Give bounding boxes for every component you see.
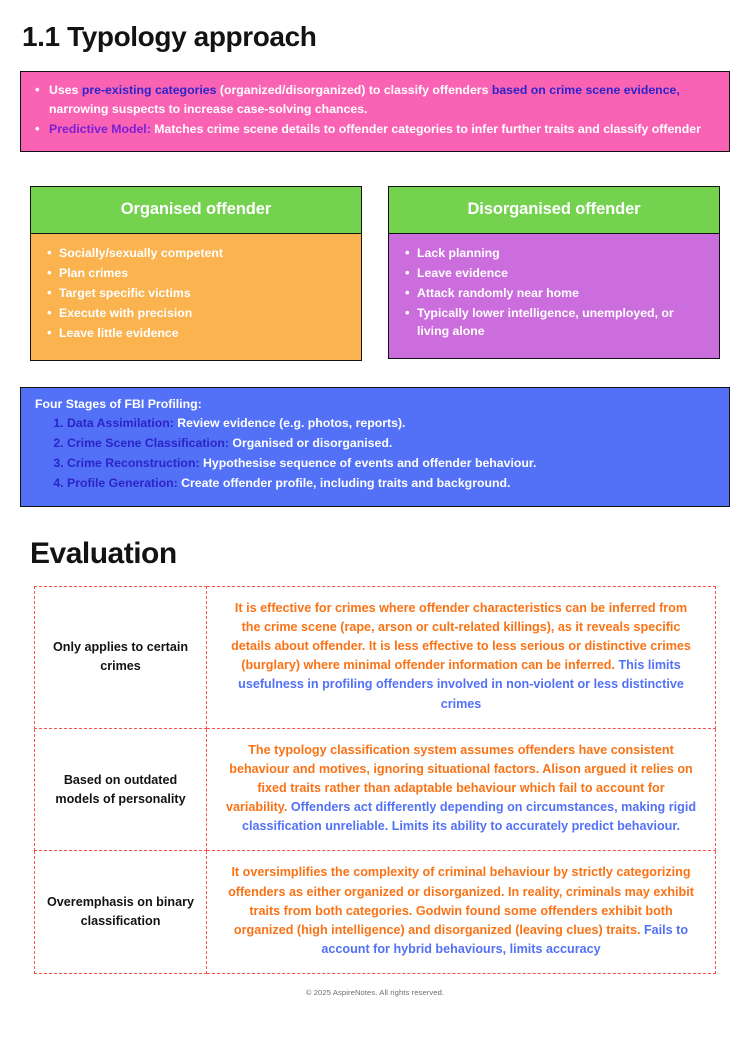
fbi-stages-box: Four Stages of FBI Profiling: Data Assim… bbox=[20, 387, 730, 507]
offender-column-body: Socially/sexually competentPlan crimesTa… bbox=[30, 233, 362, 361]
table-row: Overemphasis on binary classificationIt … bbox=[35, 851, 716, 974]
table-row: Based on outdated models of personalityT… bbox=[35, 728, 716, 851]
fbi-stage-text: Hypothesise sequence of events and offen… bbox=[200, 456, 537, 470]
fbi-stage-label: Crime Scene Classification: bbox=[67, 436, 229, 450]
fbi-stage-text: Create offender profile, including trait… bbox=[178, 476, 511, 490]
footer-copyright: © 2025 AspireNotes. All rights reserved. bbox=[18, 974, 732, 1005]
fbi-stage-item: Crime Reconstruction: Hypothesise sequen… bbox=[67, 454, 715, 474]
evaluation-row-body: The typology classification system assum… bbox=[207, 728, 716, 851]
table-row: Only applies to certain crimesIt is effe… bbox=[35, 586, 716, 728]
summary-text-span: (organized/disorganized) to classify off… bbox=[216, 83, 491, 97]
offender-trait-item: Attack randomly near home bbox=[417, 284, 707, 302]
offender-trait-item: Socially/sexually competent bbox=[59, 244, 349, 262]
evaluation-row-label: Overemphasis on binary classification bbox=[35, 851, 207, 974]
summary-box: Uses pre-existing categories (organized/… bbox=[20, 71, 730, 152]
fbi-stage-label: Profile Generation: bbox=[67, 476, 178, 490]
evaluation-row-label: Based on outdated models of personality bbox=[35, 728, 207, 851]
fbi-stage-label: Data Assimilation: bbox=[67, 416, 174, 430]
evaluation-text-span: It oversimplifies the complexity of crim… bbox=[228, 865, 694, 936]
offender-trait-item: Leave little evidence bbox=[59, 324, 349, 342]
evaluation-row-body: It oversimplifies the complexity of crim… bbox=[207, 851, 716, 974]
evaluation-row-body: It is effective for crimes where offende… bbox=[207, 586, 716, 728]
fbi-stage-label: Crime Reconstruction: bbox=[67, 456, 200, 470]
offender-trait-item: Execute with precision bbox=[59, 304, 349, 322]
summary-text-span: pre-existing categories bbox=[82, 83, 217, 97]
evaluation-text-span: Offenders act differently depending on c… bbox=[242, 800, 696, 833]
offender-column: Organised offenderSocially/sexually comp… bbox=[30, 186, 362, 361]
offender-trait-item: Plan crimes bbox=[59, 264, 349, 282]
offender-columns: Organised offenderSocially/sexually comp… bbox=[30, 186, 720, 361]
evaluation-row-label: Only applies to certain crimes bbox=[35, 586, 207, 728]
offender-column: Disorganised offenderLack planningLeave … bbox=[388, 186, 720, 361]
summary-text-span: Matches crime scene details to offender … bbox=[151, 122, 701, 136]
fbi-stages-list: Data Assimilation: Review evidence (e.g.… bbox=[35, 414, 715, 494]
fbi-stages-title: Four Stages of FBI Profiling: bbox=[35, 397, 715, 411]
page-container: 1.1 Typology approach Uses pre-existing … bbox=[0, 0, 750, 1005]
fbi-stage-text: Review evidence (e.g. photos, reports). bbox=[174, 416, 406, 430]
offender-column-title: Disorganised offender bbox=[388, 186, 720, 233]
offender-column-body: Lack planningLeave evidenceAttack random… bbox=[388, 233, 720, 359]
evaluation-heading: Evaluation bbox=[30, 537, 732, 570]
offender-trait-item: Lack planning bbox=[417, 244, 707, 262]
fbi-stage-item: Profile Generation: Create offender prof… bbox=[67, 474, 715, 494]
summary-text-span: based on crime scene evidence, bbox=[492, 83, 680, 97]
fbi-stage-item: Data Assimilation: Review evidence (e.g.… bbox=[67, 414, 715, 434]
summary-bullet: Uses pre-existing categories (organized/… bbox=[47, 81, 715, 119]
offender-trait-item: Leave evidence bbox=[417, 264, 707, 282]
summary-text-span: Predictive Model: bbox=[49, 122, 151, 136]
offender-trait-item: Target specific victims bbox=[59, 284, 349, 302]
summary-bullet-list: Uses pre-existing categories (organized/… bbox=[31, 81, 715, 139]
offender-column-title: Organised offender bbox=[30, 186, 362, 233]
evaluation-table: Only applies to certain crimesIt is effe… bbox=[34, 586, 716, 974]
offender-trait-item: Typically lower intelligence, unemployed… bbox=[417, 304, 707, 340]
fbi-stage-item: Crime Scene Classification: Organised or… bbox=[67, 434, 715, 454]
summary-bullet: Predictive Model: Matches crime scene de… bbox=[47, 120, 715, 139]
page-title: 1.1 Typology approach bbox=[22, 22, 732, 53]
offender-trait-list: Lack planningLeave evidenceAttack random… bbox=[401, 244, 707, 340]
fbi-stage-text: Organised or disorganised. bbox=[229, 436, 392, 450]
offender-trait-list: Socially/sexually competentPlan crimesTa… bbox=[43, 244, 349, 342]
summary-text-span: Uses bbox=[49, 83, 82, 97]
summary-text-span: narrowing suspects to increase case-solv… bbox=[49, 102, 367, 116]
